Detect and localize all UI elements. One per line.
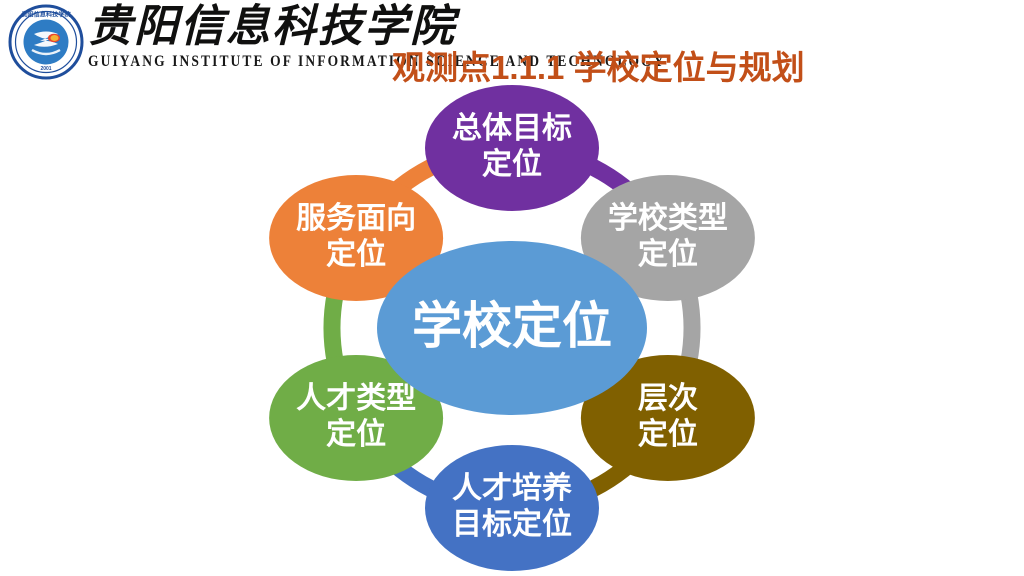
connector-arc-school-type-to-level xyxy=(689,294,692,363)
center-node-layer: 学校定位 xyxy=(377,241,647,415)
school-positioning-cycle-diagram: 总体目标定位学校类型定位层次定位人才培养目标定位人才类型定位服务面向定位 学校定… xyxy=(0,80,1024,576)
node-label-line: 学校类型 xyxy=(608,201,728,235)
node-label-line: 定位 xyxy=(638,417,698,451)
node-label-line: 定位 xyxy=(326,237,386,271)
node-label-line: 目标定位 xyxy=(452,507,572,541)
node-label-line: 总体目标 xyxy=(452,112,572,145)
node-label-line: 层次 xyxy=(638,382,698,415)
school-name-chinese: 贵阳信息科技学院 xyxy=(88,2,456,52)
node-label-line: 定位 xyxy=(638,237,698,271)
node-label-line: 人才类型 xyxy=(296,382,416,415)
cycle-center-node[interactable]: 学校定位 xyxy=(377,241,647,415)
node-label-line: 定位 xyxy=(326,417,386,451)
svg-text:贵阳信息科技学院: 贵阳信息科技学院 xyxy=(21,11,71,19)
cycle-node-overall-goal[interactable]: 总体目标定位 xyxy=(425,85,599,211)
connector-arc-talent-type-to-service-orient xyxy=(332,294,335,363)
cycle-node-talent-training[interactable]: 人才培养目标定位 xyxy=(425,445,599,571)
node-label-line: 人才培养 xyxy=(452,471,572,505)
node-label-line: 服务面向 xyxy=(296,202,416,235)
university-seal-logo-icon: 2001 贵阳信息科技学院 xyxy=(8,4,84,80)
svg-text:2001: 2001 xyxy=(40,66,51,72)
node-label-line: 定位 xyxy=(482,147,542,181)
center-label: 学校定位 xyxy=(412,298,612,354)
